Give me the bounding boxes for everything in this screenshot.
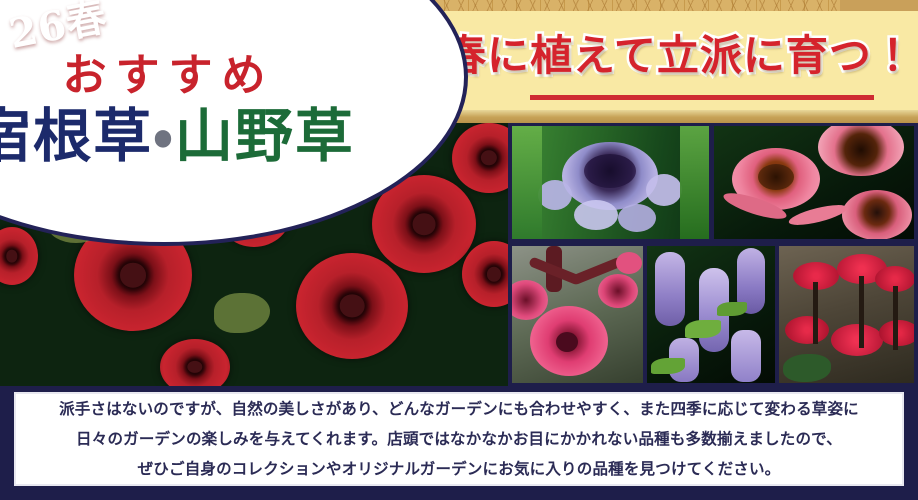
description-line-1: 派手さはないのですが、自然の美しさがあり、どんなガーデンにも合わせやすく、また四… xyxy=(59,394,859,424)
echinacea-photo xyxy=(714,126,914,239)
gold-divider-band xyxy=(420,110,918,123)
recommend-label: おすすめ xyxy=(0,52,464,100)
bergenia-photo xyxy=(779,246,914,383)
main-title-separator: ・ xyxy=(153,102,175,170)
allium-photo xyxy=(512,126,709,239)
top-pattern-band-right xyxy=(840,0,918,11)
description-line-3: ぜひご自身のコレクションやオリジナルガーデンにお気に入りの品種を見つけてください… xyxy=(138,454,781,484)
main-title-part2: 山野草 xyxy=(175,102,355,170)
main-title-part1: 宿根草 xyxy=(0,102,153,170)
headline-panel: 春に植えて立派に育つ！ xyxy=(420,11,918,110)
main-title: 宿根草・山野草 xyxy=(0,104,464,168)
description-line-2: 日々のガーデンの楽しみを与えてくれます。店頭ではなかなかお目にかかれない品種も多… xyxy=(76,424,842,454)
description-box: 派手さはないのですが、自然の美しさがあり、どんなガーデンにも合わせやすく、また四… xyxy=(14,392,904,486)
photo-grid xyxy=(508,123,918,386)
plant-catalog-banner: 春に植えて立派に育つ！ xyxy=(0,0,918,500)
headline-underline xyxy=(530,95,874,100)
headline-text: 春に植えて立派に育つ！ xyxy=(444,29,896,83)
year-ribbon-label: 26春 xyxy=(6,0,110,55)
primula-photo xyxy=(512,246,643,383)
nepeta-photo xyxy=(647,246,775,383)
